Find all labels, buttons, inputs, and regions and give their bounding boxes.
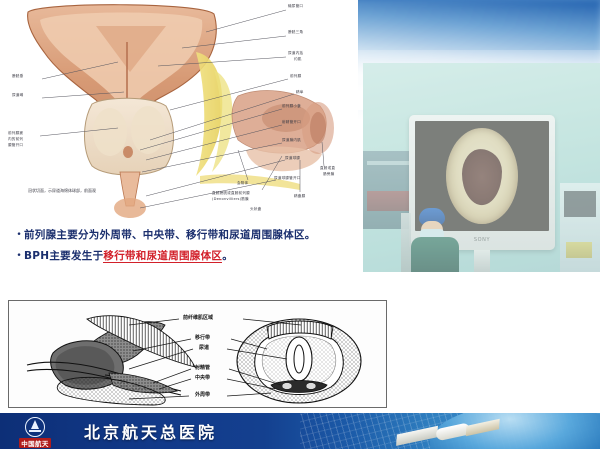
zonal-label: 尿道 (199, 344, 209, 351)
urethral-lumen (462, 149, 502, 205)
anatomy-label: 约肌 (294, 57, 302, 61)
anatomy-label: 会阴体 (237, 181, 248, 185)
bullet-text-plain: 前列腺主要分为外周带、中央带、移行带和尿道周围腺体区。 (24, 229, 316, 241)
anatomy-label: 尿道膜内肌 (282, 138, 301, 142)
anatomy-label: 腺管开口 (8, 143, 23, 147)
zonal-label: 射精管 (195, 364, 210, 371)
anatomy-label: 输尿管口 (288, 4, 303, 8)
surgeon-gown (411, 237, 459, 272)
hospital-name: 北京航天总医院 (84, 413, 217, 449)
anatomy-caption: 冠状切面，示尿道海绵体球部，前面观 (28, 188, 96, 194)
satellite-panel-left (396, 426, 438, 446)
anatomy-label: 尿道内括 (288, 51, 303, 55)
anatomy-label: 内的前列 (8, 137, 23, 141)
casc-logo-text: 中国航天 (19, 438, 51, 448)
monitor-brand-label: SONY (474, 237, 490, 243)
anatomy-label: 前列腺窦 (8, 131, 23, 135)
anatomy-label: 肠旁膜 (323, 172, 334, 176)
zonal-anatomy-figure: 前纤维肌区域 移行带 尿道 射精管 中央带 外周带 (8, 300, 387, 408)
anatomy-figure: 输尿管口 膀胱三角 尿道内括 约肌 前列腺 精阜 前列腺小囊 射精管开口 尿道膜… (0, 0, 358, 222)
list-item: • BPH主要发生于移行带和尿道周围腺体区。 (14, 249, 354, 264)
operating-room-photo: SONY (363, 63, 600, 272)
zonal-label: 前纤维肌区域 (183, 314, 213, 321)
bullet-highlight: 移行带和尿道周围腺体区 (103, 250, 222, 263)
satellite-panel-right (466, 419, 500, 436)
casc-logo: 中国航天 (6, 415, 64, 449)
anatomy-label: 前列腺 (290, 74, 301, 78)
bullet-marker: • (14, 249, 24, 264)
zonal-label: 移行带 (195, 334, 210, 341)
anatomy-label: 膀胱垂 (12, 74, 23, 78)
anatomy-label: (Denonvilliers)筋膜 (212, 197, 249, 201)
anatomy-label: 尿道嵴 (12, 93, 23, 97)
anatomy-label: 前列腺小囊 (282, 104, 301, 108)
bullet-text-plain: BPH主要发生于 (24, 250, 103, 262)
bullet-text: 前列腺主要分为外周带、中央带、移行带和尿道周围腺体区。 (24, 228, 316, 243)
monitor-stand (474, 250, 490, 272)
anatomy-label: 精阜 (296, 90, 304, 94)
slide-root: 输尿管口 膀胱三角 尿道内括 约肌 前列腺 精阜 前列腺小囊 射精管开口 尿道膜… (0, 0, 600, 449)
anatomy-label: 尿道球腺管开口 (274, 176, 301, 180)
bullet-list: • 前列腺主要分为外周带、中央带、移行带和尿道周围腺体区。 • BPH主要发生于… (14, 228, 354, 270)
bullet-text: BPH主要发生于移行带和尿道周围腺体区。 (24, 249, 233, 264)
anatomy-label: 射精管开口 (282, 120, 301, 124)
bullet-marker: • (14, 228, 24, 243)
zonal-label: 外周带 (195, 391, 210, 398)
casc-emblem-icon (25, 417, 45, 437)
zonal-label: 中央带 (195, 374, 210, 381)
or-equipment-rack (560, 183, 600, 272)
anatomy-label: 尿道球腺 (285, 156, 300, 160)
anatomy-label: 直肠膀胱或直肠前列腺 (212, 191, 250, 195)
anatomy-label: 精囊腺 (294, 194, 305, 198)
anatomy-label: 膀胱三角 (288, 30, 303, 34)
bullet-text-tail: 。 (222, 250, 233, 262)
list-item: • 前列腺主要分为外周带、中央带、移行带和尿道周围腺体区。 (14, 228, 354, 243)
surgeon-figure (409, 208, 465, 272)
anatomy-label: 直肠或直 (320, 166, 335, 170)
anatomy-label: 头状囊 (250, 207, 261, 211)
footer-banner: 中国航天 北京航天总医院 (0, 413, 600, 449)
